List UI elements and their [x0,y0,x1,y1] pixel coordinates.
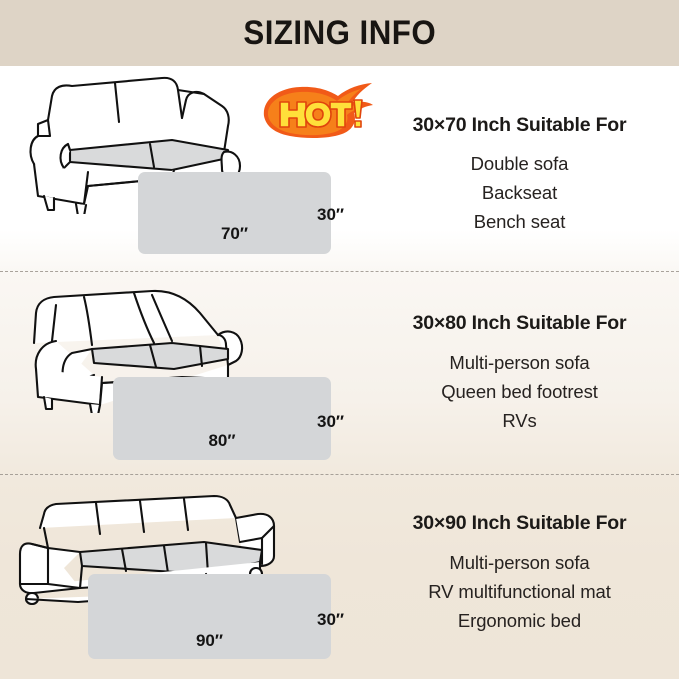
use-item: Double sofa [360,149,679,178]
size-title-90: 30×90 Inch Suitable For [360,512,679,535]
text-block-80: 30×80 Inch Suitable For Multi-person sof… [360,271,679,474]
height-label-80: 30″ [317,412,344,432]
width-label-90: 90″ [88,631,331,651]
width-label-80: 80″ [113,431,331,451]
use-item: RV multifunctional mat [360,577,679,606]
uses-list-80: Multi-person sofa Queen bed footrest RVs [360,348,679,435]
text-block-90: 30×90 Inch Suitable For Multi-person sof… [360,474,679,679]
use-item: RVs [360,406,679,435]
illustration-area-90: 90″ 30″ [0,474,380,679]
size-row-70: 70″ 30″ 30×70 Inch Suitable For Double s… [0,66,679,271]
use-item: Bench seat [360,207,679,236]
header-band: SIZING INFO [0,0,679,66]
page-title: SIZING INFO [243,14,436,53]
use-item: Backseat [360,178,679,207]
use-item: Ergonomic bed [360,606,679,635]
illustration-area-80: 80″ 30″ [0,271,380,474]
height-label-70: 30″ [317,205,344,225]
use-item: Multi-person sofa [360,548,679,577]
use-item: Queen bed footrest [360,377,679,406]
sizing-info-infographic: SIZING INFO [0,0,679,679]
uses-list-70: Double sofa Backseat Bench seat [360,149,679,236]
size-title-80: 30×80 Inch Suitable For [360,312,679,335]
illustration-area-70: 70″ 30″ [0,66,380,271]
size-row-80: 80″ 30″ 30×80 Inch Suitable For Multi-pe… [0,271,679,474]
height-label-90: 30″ [317,610,344,630]
size-row-90: 90″ 30″ 30×90 Inch Suitable For Multi-pe… [0,474,679,679]
size-title-70: 30×70 Inch Suitable For [360,114,679,137]
hot-badge [256,82,374,140]
use-item: Multi-person sofa [360,348,679,377]
uses-list-90: Multi-person sofa RV multifunctional mat… [360,548,679,635]
width-label-70: 70″ [138,224,331,244]
text-block-70: 30×70 Inch Suitable For Double sofa Back… [360,66,679,271]
